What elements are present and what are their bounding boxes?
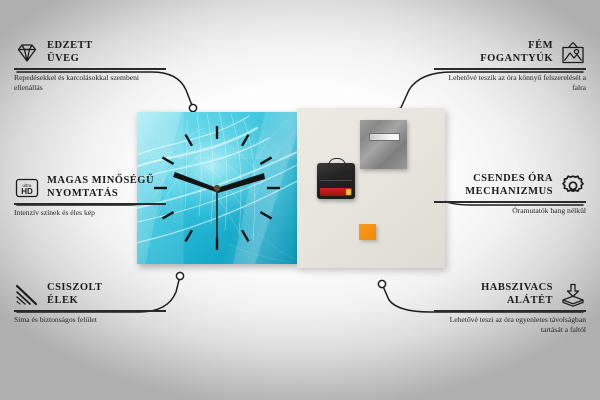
clock-hands xyxy=(173,172,265,248)
picture-hanger-icon xyxy=(560,41,586,65)
feature-divider xyxy=(434,201,586,203)
feature-heading: HABSZIVACSALÁTÉT xyxy=(434,282,586,307)
feature-fem-fogantyuk: FÉMFOGANTYÚK Lehetővé teszik az óra könn… xyxy=(434,40,586,92)
mechanism-hook xyxy=(328,158,346,167)
hanger-slot xyxy=(369,133,400,141)
feature-heading: EDZETTÜVEG xyxy=(14,40,166,65)
battery-terminal xyxy=(346,189,351,195)
feature-description: Óramutatók hang nélkül xyxy=(434,206,586,216)
metal-hanger-plate xyxy=(360,120,407,169)
wire-endpoint-csiszolt-elek xyxy=(176,272,183,279)
product-back-view xyxy=(297,108,445,268)
feature-title: MAGAS MINŐSÉGŰNYOMTATÁS xyxy=(47,175,154,200)
diamond-icon xyxy=(14,41,40,65)
beveled-edges-icon xyxy=(14,283,40,307)
gear-icon xyxy=(560,174,586,198)
infographic-canvas: EDZETTÜVEG Repedésekkel és karcolásokkal… xyxy=(0,0,600,400)
ultra-hd-icon: ultra HD xyxy=(14,176,40,200)
feature-csendes-ora-mechanizmus: CSENDES ÓRAMECHANIZMUS Óramutatók hang n… xyxy=(434,173,586,216)
feature-divider xyxy=(14,68,166,70)
feature-description: Lehetővé teszik az óra könnyű felszerelé… xyxy=(434,73,586,92)
feature-csiszolt-elek: CSISZOLTÉLEK Sima és biztonságos felület xyxy=(14,282,166,325)
battery xyxy=(320,188,352,196)
feature-title: HABSZIVACSALÁTÉT xyxy=(481,282,553,307)
foam-pad-arrow-icon xyxy=(560,283,586,307)
feature-title: FÉMFOGANTYÚK xyxy=(480,40,553,65)
minute-hand xyxy=(217,173,265,193)
feature-divider xyxy=(14,203,166,205)
foam-pad xyxy=(359,224,376,240)
hour-hand xyxy=(173,172,217,192)
mechanism-seam xyxy=(320,180,352,181)
feature-heading: ultra HD MAGAS MINŐSÉGŰNYOMTATÁS xyxy=(14,175,166,200)
feature-divider xyxy=(434,310,586,312)
feature-habszivacs-alatet: HABSZIVACSALÁTÉT Lehetővé teszi az óra e… xyxy=(434,282,586,334)
feature-magas-minosegu-nyomtatas: ultra HD MAGAS MINŐSÉGŰNYOMTATÁS Intenzí… xyxy=(14,175,166,218)
feature-description: Sima és biztonságos felület xyxy=(14,315,166,325)
feature-edzett-uveg: EDZETTÜVEG Repedésekkel és karcolásokkal… xyxy=(14,40,166,92)
feature-divider xyxy=(434,68,586,70)
wire-endpoint-habszivacs xyxy=(378,280,385,287)
feature-heading: CSENDES ÓRAMECHANIZMUS xyxy=(434,173,586,198)
feature-description: Lehetővé teszi az óra egyenletes távolsá… xyxy=(434,315,586,334)
feature-title: EDZETTÜVEG xyxy=(47,40,93,65)
feature-description: Intenzív színek és éles kép xyxy=(14,208,166,218)
feature-heading: FÉMFOGANTYÚK xyxy=(434,40,586,65)
feature-heading: CSISZOLTÉLEK xyxy=(14,282,166,307)
clock-mechanism xyxy=(317,163,355,199)
wire-endpoint-edzett-uveg xyxy=(189,104,196,111)
feature-description: Repedésekkel és karcolásokkal szembeni e… xyxy=(14,73,166,92)
hands-center-cap xyxy=(214,185,220,191)
feature-title: CSENDES ÓRAMECHANIZMUS xyxy=(465,173,553,198)
feature-divider xyxy=(14,310,166,312)
svg-text:HD: HD xyxy=(21,187,33,196)
feature-title: CSISZOLTÉLEK xyxy=(47,282,103,307)
